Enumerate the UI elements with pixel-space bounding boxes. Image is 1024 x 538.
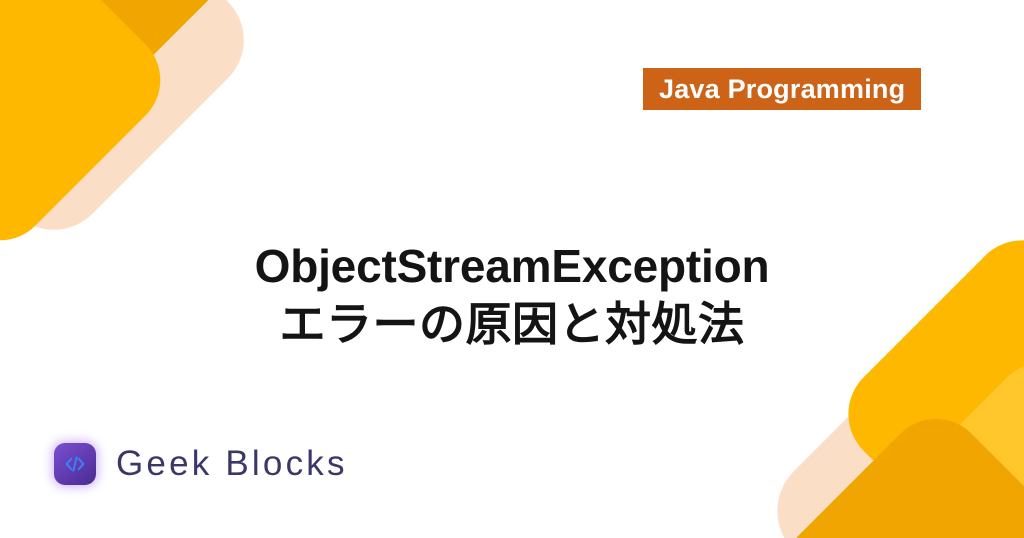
page-title: ObjectStreamException エラーの原因と対処法: [0, 237, 1024, 353]
page-title-line-1: ObjectStreamException: [0, 237, 1024, 295]
eyecatch-card: Java Programming ObjectStreamException エ…: [0, 0, 1024, 538]
site-logo: Geek Blocks: [54, 443, 348, 485]
page-title-line-2: エラーの原因と対処法: [0, 295, 1024, 353]
deco-square-orange-tl: [0, 0, 257, 133]
deco-square-amber-tl: [0, 0, 166, 184]
deco-square-mid-orange-tl: [0, 0, 181, 261]
deco-square-orange-br: [752, 398, 1024, 538]
code-brackets-icon: [54, 443, 96, 485]
category-badge: Java Programming: [643, 68, 921, 110]
deco-square-peach-tl: [0, 0, 266, 252]
site-logo-text: Geek Blocks: [116, 444, 348, 484]
deco-square-amber-br: [854, 340, 1024, 538]
